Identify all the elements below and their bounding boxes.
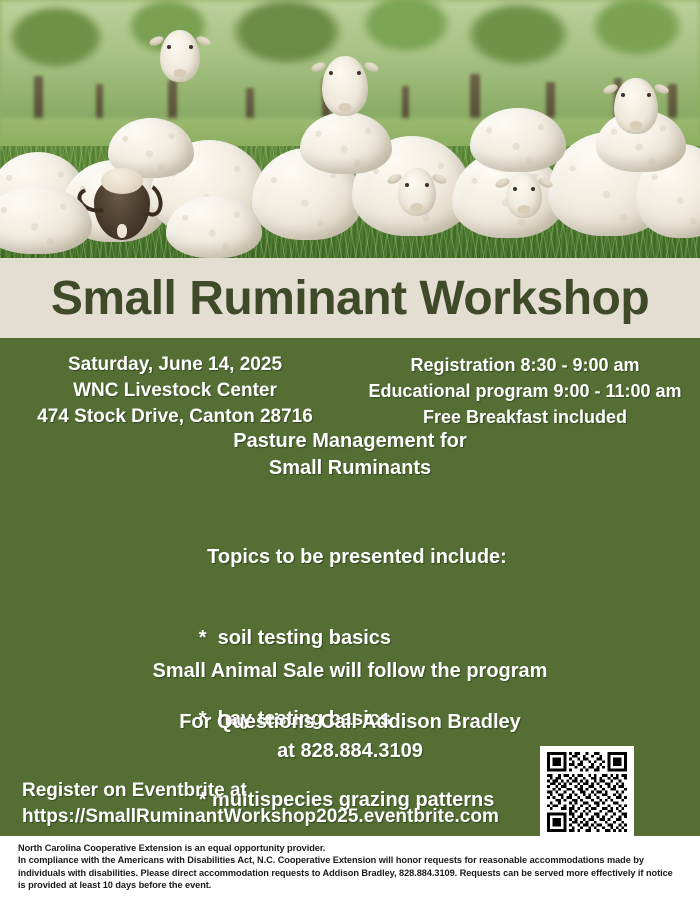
event-details: Saturday, June 14, 2025 WNC Livestock Ce… <box>0 352 700 430</box>
event-details-left: Saturday, June 14, 2025 WNC Livestock Ce… <box>0 352 350 430</box>
registration-label: Register on Eventbrite at <box>22 778 499 804</box>
sheep-muzzle-icon <box>411 203 424 212</box>
topic-item: * soil testing basics <box>193 625 507 652</box>
sheep-muzzle-icon <box>339 103 352 112</box>
sheep-eye-icon <box>405 183 409 187</box>
sheep-eye-icon <box>357 71 361 75</box>
sheep-head <box>160 30 200 82</box>
sheep-head <box>398 168 436 216</box>
sheep-eye-icon <box>513 187 517 191</box>
registration-time: Registration 8:30 - 9:00 am <box>350 352 700 378</box>
footer-line-2: In compliance with the Americans with Di… <box>18 854 686 866</box>
program-subtitle-line2: Small Ruminants <box>0 455 700 482</box>
title-band: Small Ruminant Workshop <box>0 258 700 338</box>
sheep-muzzle-icon <box>630 121 643 130</box>
footer-disclaimer: North Carolina Cooperative Extension is … <box>0 836 700 905</box>
sheep-eye-icon <box>531 187 535 191</box>
sheep-head <box>322 56 368 116</box>
sheep-muzzle-icon <box>174 69 187 78</box>
registration-url[interactable]: https://SmallRuminantWorkshop2025.eventb… <box>22 804 499 830</box>
sheep-wool-cap <box>101 168 143 194</box>
event-venue: WNC Livestock Center <box>0 378 350 404</box>
sheep-eye-icon <box>189 45 193 49</box>
sheep-muzzle-icon <box>518 205 531 214</box>
footer-line-3: individuals with disabilities. Please di… <box>18 867 686 879</box>
sheep-photo <box>0 0 700 258</box>
event-address: 474 Stock Drive, Canton 28716 <box>0 404 350 430</box>
qr-code[interactable] <box>540 746 634 838</box>
sheep-eye-icon <box>329 71 333 75</box>
topics-heading: Topics to be presented include: <box>193 544 507 571</box>
sheep-eye-icon <box>621 93 625 97</box>
animal-sale-note: Small Animal Sale will follow the progra… <box>0 660 700 683</box>
sheep-head <box>614 78 658 134</box>
program-subtitle-line1: Pasture Management for <box>0 428 700 455</box>
sheep-head <box>506 172 542 218</box>
sheep-eye-icon <box>167 45 171 49</box>
registration-block: Register on Eventbrite at https://SmallR… <box>22 778 499 830</box>
footer-line-4: is provided at least 10 days before the … <box>18 879 686 891</box>
sheep-eye-icon <box>647 93 651 97</box>
program-subtitle: Pasture Management for Small Ruminants <box>0 428 700 482</box>
qr-code-icon <box>546 752 628 832</box>
sheep-eye-icon <box>425 183 429 187</box>
sheep-blaze <box>117 224 127 238</box>
program-time: Educational program 9:00 - 11:00 am <box>350 378 700 404</box>
event-date: Saturday, June 14, 2025 <box>0 352 350 378</box>
flyer: Small Ruminant Workshop Saturday, June 1… <box>0 0 700 905</box>
event-details-right: Registration 8:30 - 9:00 am Educational … <box>350 352 700 430</box>
page-title: Small Ruminant Workshop <box>51 271 649 326</box>
footer-line-1: North Carolina Cooperative Extension is … <box>18 842 686 854</box>
breakfast-note: Free Breakfast included <box>350 404 700 430</box>
contact-name-line: For Questions Call Addison Bradley <box>0 708 700 737</box>
